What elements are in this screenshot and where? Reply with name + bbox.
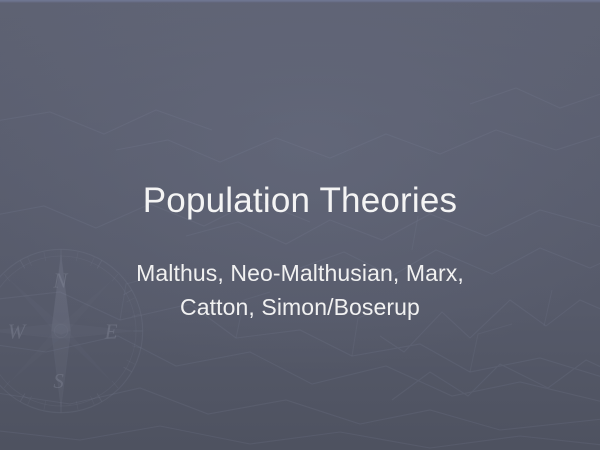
compass-north-label: N	[52, 268, 68, 292]
slide-background-gradient	[0, 0, 600, 450]
map-contour-texture	[0, 0, 600, 450]
compass-west-label: W	[8, 320, 27, 344]
slide-content: Population Theories Malthus, Neo-Malthus…	[0, 0, 600, 450]
page-title: Population Theories	[0, 181, 600, 220]
compass-south-label: S	[53, 369, 64, 393]
compass-rose-watermark: N S E W	[0, 236, 156, 426]
subtitle-line-2: Catton, Simon/Boserup	[0, 290, 600, 324]
slide-subtitle: Malthus, Neo-Malthusian, Marx, Catton, S…	[0, 256, 600, 324]
slide-top-edge-highlight	[0, 0, 600, 3]
subtitle-line-1: Malthus, Neo-Malthusian, Marx,	[0, 256, 600, 290]
presentation-slide: N S E W Population Theories Malthus, Neo…	[0, 0, 600, 450]
compass-east-label: E	[104, 320, 118, 344]
